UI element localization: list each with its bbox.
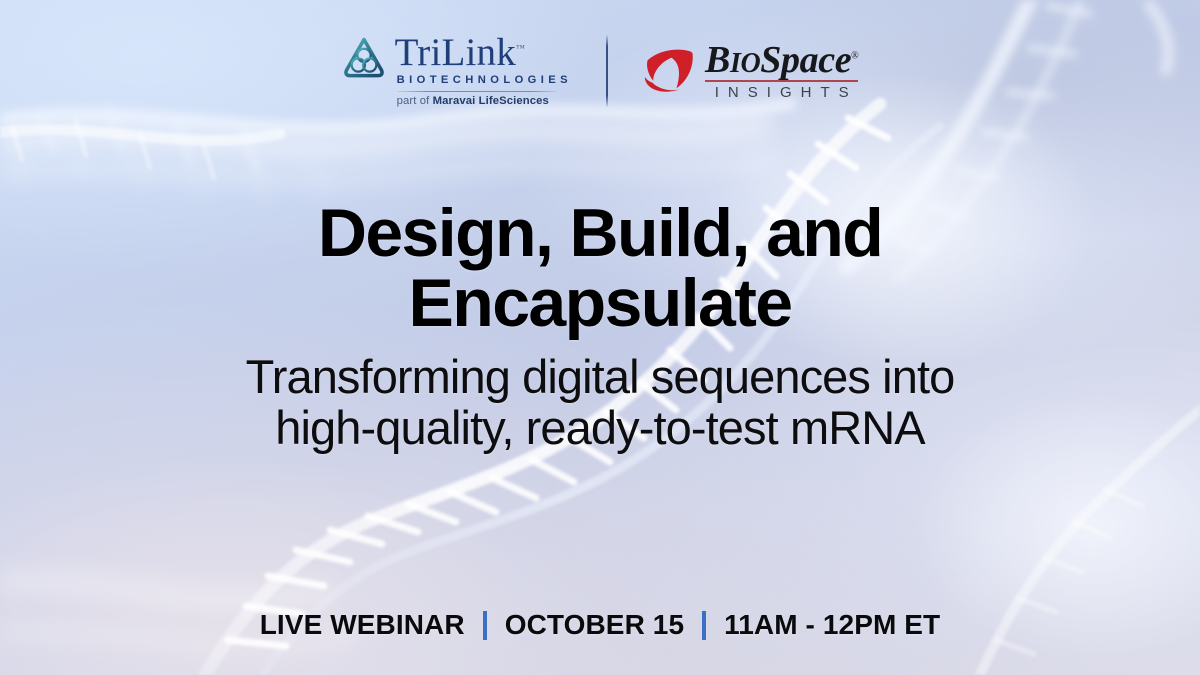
headline-block: Design, Build, and Encapsulate Transform… <box>0 198 1200 454</box>
title-line-1: Design, Build, and <box>0 198 1200 268</box>
trilink-triquetra-icon <box>342 36 386 80</box>
biospace-logo[interactable]: BIOSpace® INSIGHTS <box>642 41 858 101</box>
trilink-tagline: BIOTECHNOLOGIES <box>395 74 572 86</box>
biospace-swoosh-icon <box>642 44 698 96</box>
biospace-tagline: INSIGHTS <box>705 84 858 101</box>
event-time: 11AM - 12PM ET <box>724 609 940 641</box>
trilink-wordmark: TriLink™ <box>395 34 572 71</box>
affiliation-parent: Maravai LifeSciences <box>433 95 549 107</box>
biospace-registered-symbol: ® <box>851 50 858 61</box>
trilink-affiliation: part of Maravai LifeSciences <box>395 95 572 107</box>
page-subtitle: Transforming digital sequences into high… <box>0 352 1200 454</box>
event-detail-bar: LIVE WEBINAR OCTOBER 15 11AM - 12PM ET <box>0 609 1200 641</box>
biospace-name-smallcaps: IO <box>730 48 760 79</box>
event-date: OCTOBER 15 <box>505 609 684 641</box>
event-separator-1 <box>483 611 487 640</box>
affiliation-prefix: part of <box>397 95 433 107</box>
trilink-logo[interactable]: TriLink™ BIOTECHNOLOGIES part of Maravai… <box>342 34 572 107</box>
webinar-promo-banner: TriLink™ BIOTECHNOLOGIES part of Maravai… <box>0 0 1200 675</box>
trilink-trademark-symbol: ™ <box>516 43 525 53</box>
logo-divider <box>606 35 608 107</box>
subtitle-line-2: high-quality, ready-to-test mRNA <box>0 403 1200 454</box>
trilink-name: TriLink <box>395 31 516 74</box>
biospace-wordmark: BIOSpace® <box>705 41 858 79</box>
event-type: LIVE WEBINAR <box>260 609 465 641</box>
biospace-name-lead: B <box>705 39 730 81</box>
title-line-2: Encapsulate <box>0 268 1200 338</box>
subtitle-line-1: Transforming digital sequences into <box>0 352 1200 403</box>
biospace-wordmark-block: BIOSpace® INSIGHTS <box>705 41 858 101</box>
event-separator-2 <box>702 611 706 640</box>
trilink-wordmark-block: TriLink™ BIOTECHNOLOGIES part of Maravai… <box>395 34 572 107</box>
logo-band: TriLink™ BIOTECHNOLOGIES part of Maravai… <box>0 34 1200 107</box>
page-title: Design, Build, and Encapsulate <box>0 198 1200 338</box>
biospace-name-rest: Space <box>760 39 851 81</box>
trilink-divider-rule <box>397 91 557 92</box>
